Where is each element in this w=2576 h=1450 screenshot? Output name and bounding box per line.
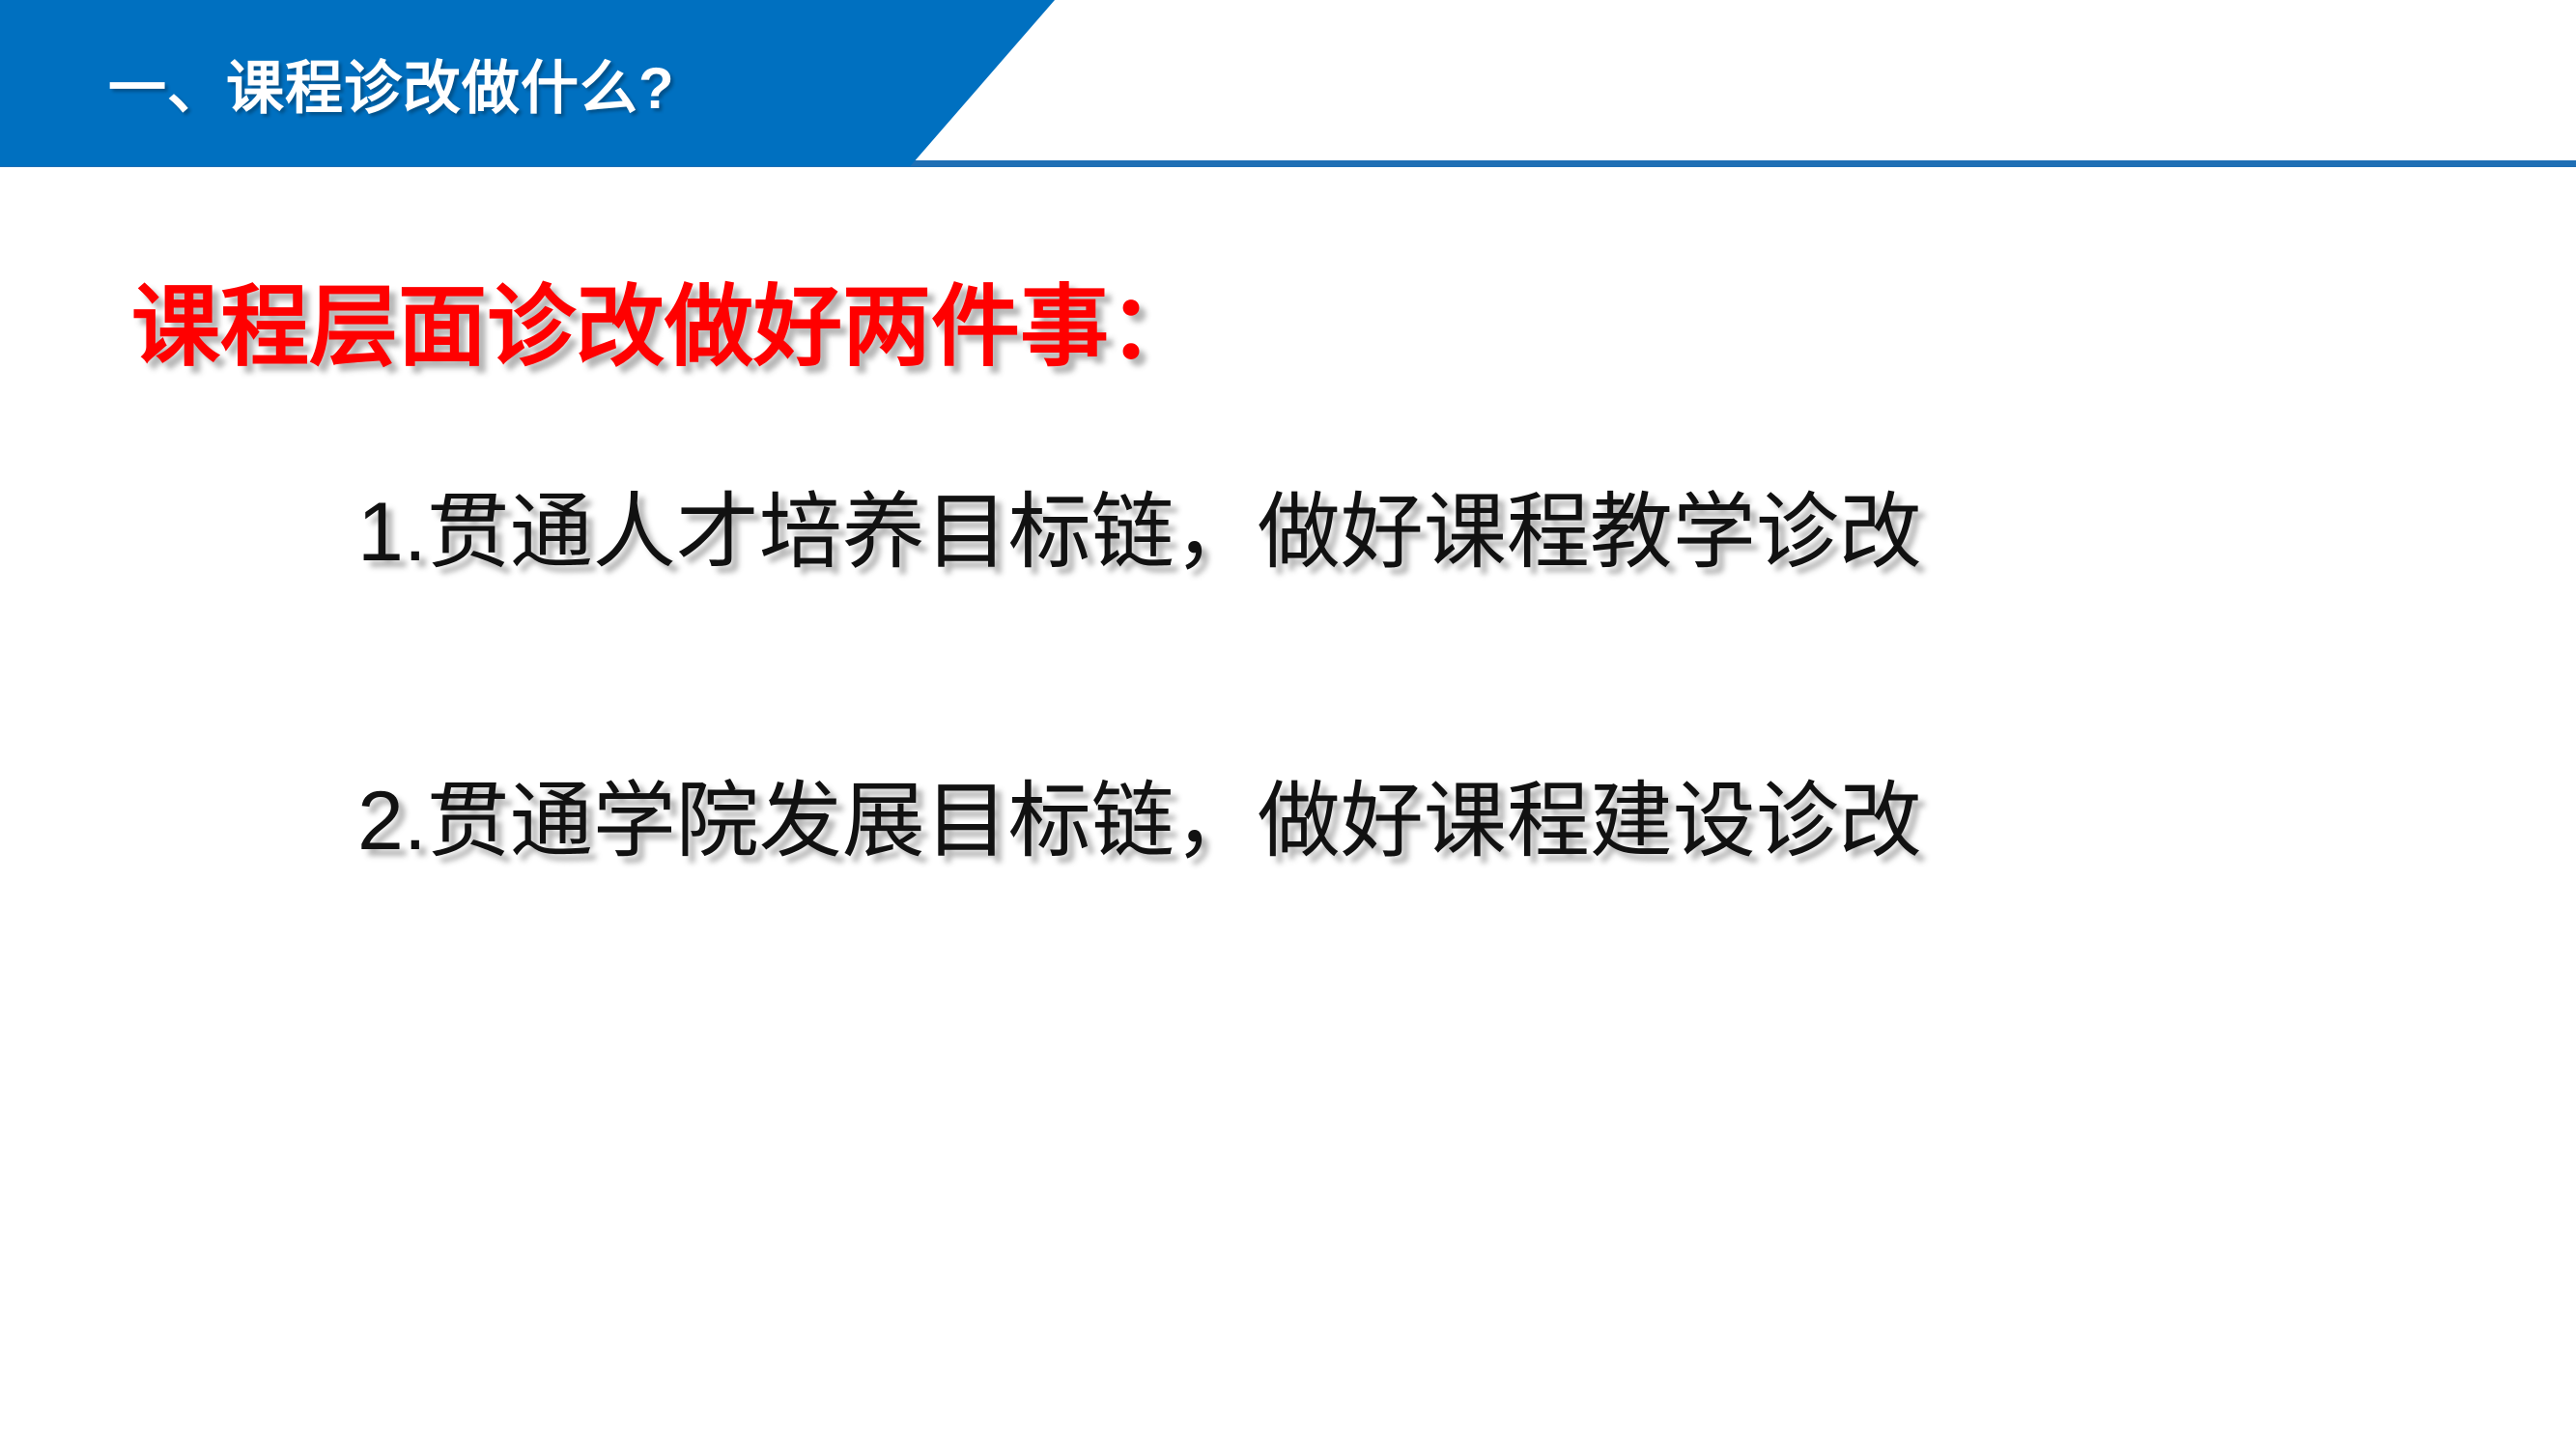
presentation-slide: 一、课程诊改做什么? 课程层面诊改做好两件事： 1.贯通人才培养目标链，做好课程… bbox=[0, 0, 2576, 1450]
section-heading: 课程层面诊改做好两件事： bbox=[131, 280, 1198, 376]
header-band bbox=[0, 0, 1055, 166]
list-item: 2.贯通学院发展目标链，做好课程建设诊改 bbox=[0, 774, 2576, 869]
list-item: 1.贯通人才培养目标链，做好课程教学诊改 bbox=[0, 485, 2576, 581]
slide-body: 课程层面诊改做好两件事： 1.贯通人才培养目标链，做好课程教学诊改 2.贯通学院… bbox=[0, 166, 2576, 1450]
bullet-list: 1.贯通人才培养目标链，做好课程教学诊改 2.贯通学院发展目标链，做好课程建设诊… bbox=[0, 485, 2576, 869]
